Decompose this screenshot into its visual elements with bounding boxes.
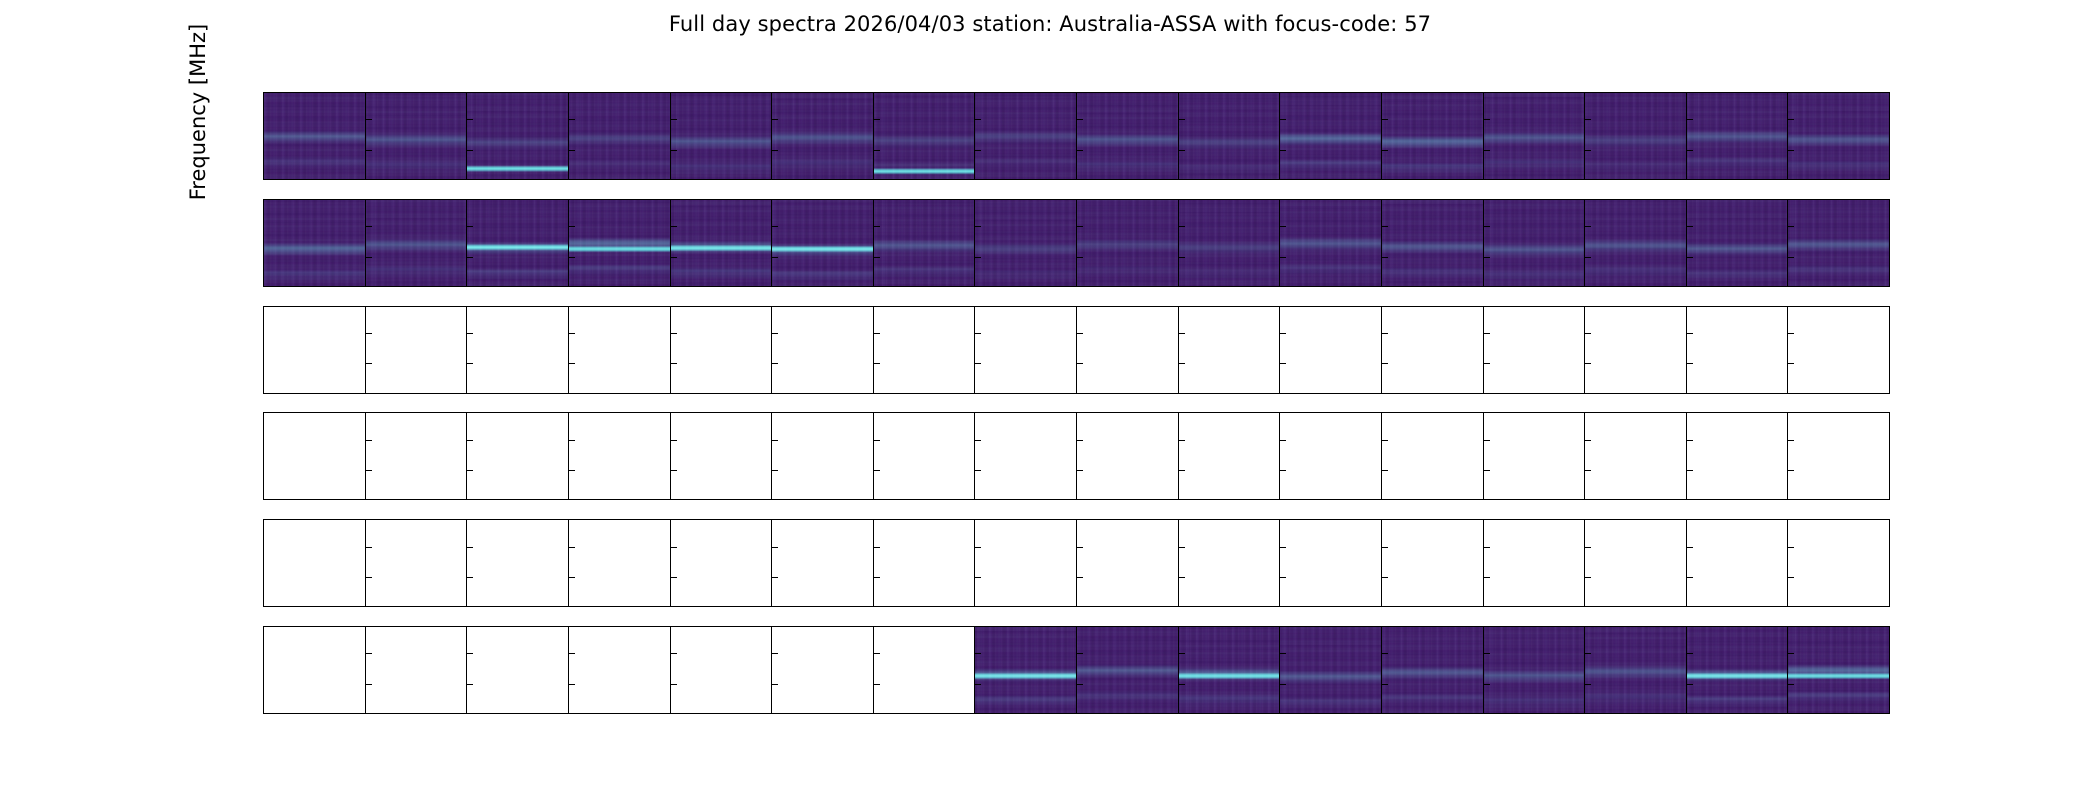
inner-y-tick-200	[1484, 150, 1490, 151]
inner-y-tick-300	[671, 333, 677, 334]
inner-y-tick-200	[1484, 684, 1490, 685]
inner-y-tick-200	[1585, 257, 1591, 258]
inner-y-tick-200	[975, 150, 981, 151]
spectrogram-emission-band	[975, 202, 1076, 286]
inner-y-tick-200	[874, 577, 880, 578]
inner-y-tick-200	[467, 363, 473, 364]
y-tick-300: 300	[263, 119, 264, 120]
spectrogram-cell[interactable]	[1584, 200, 1686, 286]
spectrogram-cell[interactable]	[1483, 200, 1585, 286]
spectrogram-cell[interactable]	[1076, 93, 1178, 179]
inner-y-tick-300	[772, 226, 778, 227]
spectrogram-vertical-streaks	[975, 627, 1076, 713]
spectrogram-cell[interactable]	[873, 93, 975, 179]
inner-y-tick-300	[1788, 547, 1794, 548]
spectrogram-emission-band	[1484, 203, 1585, 286]
spectrogram-cell[interactable]	[974, 627, 1076, 713]
inner-y-tick-300	[1382, 333, 1388, 334]
spectrogram-cell[interactable]	[1787, 520, 1889, 606]
spectrogram-cell[interactable]	[1279, 413, 1381, 499]
spectrogram-emission-band	[1179, 96, 1280, 179]
spectrogram-cell[interactable]	[670, 627, 772, 713]
inner-y-tick-200	[1280, 577, 1286, 578]
spectrogram-emission-band	[264, 202, 365, 286]
inner-y-tick-300	[1687, 440, 1693, 441]
spectrogram-emission-band	[1179, 201, 1280, 286]
spectrogram-cell[interactable]	[670, 307, 772, 393]
figure-title: Full day spectra 2026/04/03 station: Aus…	[0, 12, 2100, 36]
spectrogram-cell[interactable]	[365, 307, 467, 393]
spectrogram-cell[interactable]	[466, 413, 568, 499]
inner-y-tick-200	[671, 363, 677, 364]
inner-y-tick-300	[1382, 547, 1388, 548]
spectrogram-vertical-streaks	[1585, 627, 1686, 713]
inner-y-tick-200	[671, 150, 677, 151]
spectrogram-vertical-streaks	[1179, 200, 1280, 286]
inner-y-tick-300	[1687, 547, 1693, 548]
spectrogram-row-20-23ut[interactable]: 2003000015304500153045001530450015304520…	[263, 626, 1890, 714]
spectrogram-cell[interactable]	[1787, 200, 1889, 286]
inner-y-tick-300	[1382, 226, 1388, 227]
spectrogram-emission-band	[1077, 627, 1178, 710]
spectrogram-cell[interactable]	[466, 200, 568, 286]
inner-y-tick-300	[671, 226, 677, 227]
spectrogram-cell-group	[264, 627, 1889, 713]
spectrogram-emission-band	[1585, 200, 1686, 285]
inner-y-tick-200	[1280, 257, 1286, 258]
x-tick-9	[1178, 713, 1179, 714]
inner-y-tick-200	[1077, 257, 1083, 258]
spectrogram-cell[interactable]	[1381, 413, 1483, 499]
inner-y-tick-200	[569, 470, 575, 471]
x-tick-11	[1381, 713, 1382, 714]
spectrogram-row-00-03ut[interactable]: 20030000-03UT	[263, 92, 1890, 180]
spectrogram-vertical-streaks	[1484, 627, 1585, 713]
spectrogram-cell[interactable]	[264, 627, 365, 713]
inner-y-tick-300	[1484, 440, 1490, 441]
spectrogram-emission-band	[1280, 93, 1381, 178]
y-tick-300: 300	[263, 653, 264, 654]
inner-y-tick-200	[467, 257, 473, 258]
spectrogram-noise-texture	[1687, 627, 1788, 713]
spectrogram-cell[interactable]	[466, 520, 568, 606]
spectrogram-cell[interactable]	[264, 520, 365, 606]
inner-y-tick-200	[1484, 577, 1490, 578]
spectrogram-cell[interactable]	[365, 627, 467, 713]
spectrogram-noise-texture	[1788, 200, 1889, 286]
spectrogram-plot-area: 20030000-03UT20030004-07UT20030008-11UT2…	[263, 92, 1890, 714]
spectrogram-noise-texture	[975, 93, 1076, 179]
spectrogram-emission-band	[1077, 200, 1178, 284]
spectrogram-cell[interactable]	[1584, 627, 1686, 713]
spectrogram-vertical-streaks	[264, 200, 365, 286]
inner-y-tick-300	[1585, 119, 1591, 120]
spectrogram-cell[interactable]	[568, 307, 670, 393]
spectrogram-cell[interactable]	[873, 627, 975, 713]
spectrogram-cell[interactable]	[974, 93, 1076, 179]
spectrogram-cell[interactable]	[1381, 307, 1483, 393]
inner-y-tick-300	[366, 547, 372, 548]
spectrogram-noise-texture	[1585, 93, 1686, 179]
spectrogram-cell[interactable]	[1483, 627, 1585, 713]
inner-y-tick-300	[467, 333, 473, 334]
spectrogram-vertical-streaks	[1280, 200, 1381, 286]
spectrogram-cell[interactable]	[1279, 627, 1381, 713]
spectrogram-emission-band	[1280, 200, 1381, 283]
spectrogram-noise-texture	[772, 200, 873, 286]
spectrogram-vertical-streaks	[1077, 93, 1178, 179]
spectrogram-cell[interactable]	[771, 627, 873, 713]
inner-y-tick-300	[772, 333, 778, 334]
inner-y-tick-200	[1280, 684, 1286, 685]
inner-y-tick-200	[975, 363, 981, 364]
spectrogram-vertical-streaks	[1077, 627, 1178, 713]
spectrogram-emission-band	[874, 200, 975, 285]
spectrogram-bright-line	[1687, 627, 1788, 713]
inner-y-tick-300	[569, 333, 575, 334]
spectrogram-noise-texture	[1179, 93, 1280, 179]
spectrogram-cell[interactable]	[1483, 307, 1585, 393]
spectrogram-row-16-19ut[interactable]: 20030016-19UT	[263, 519, 1890, 607]
spectrogram-noise-texture	[1788, 627, 1889, 713]
spectrogram-cell[interactable]	[974, 520, 1076, 606]
spectrogram-cell[interactable]	[365, 413, 467, 499]
spectrogram-cell[interactable]	[1076, 413, 1178, 499]
spectrogram-cell[interactable]	[873, 413, 975, 499]
spectrogram-cell[interactable]	[1787, 307, 1889, 393]
inner-y-tick-300	[1179, 440, 1185, 441]
spectrogram-cell[interactable]	[466, 627, 568, 713]
spectrogram-cell[interactable]	[670, 200, 772, 286]
spectrogram-cell[interactable]	[1686, 627, 1788, 713]
x-tick-10	[1280, 713, 1281, 714]
x-tick-12	[1483, 713, 1484, 714]
y-tick-300: 300	[263, 333, 264, 334]
spectrogram-noise-texture	[1484, 627, 1585, 713]
spectrogram-bright-line	[467, 200, 568, 286]
inner-y-tick-200	[1179, 684, 1185, 685]
spectrogram-vertical-streaks	[975, 200, 1076, 286]
inner-y-tick-300	[975, 226, 981, 227]
spectrogram-noise-texture	[1077, 93, 1178, 179]
inner-y-tick-200	[1687, 684, 1693, 685]
x-tick-14	[1686, 713, 1687, 714]
spectrogram-vertical-streaks	[975, 93, 1076, 179]
spectrogram-cell[interactable]	[1178, 413, 1280, 499]
inner-y-tick-200	[569, 257, 575, 258]
spectrogram-emission-band	[1382, 95, 1483, 179]
spectrogram-cell[interactable]	[1279, 200, 1381, 286]
inner-y-tick-200	[1788, 577, 1794, 578]
spectrogram-cell[interactable]	[1483, 520, 1585, 606]
inner-y-tick-300	[467, 547, 473, 548]
inner-y-tick-200	[569, 577, 575, 578]
spectrogram-cell[interactable]	[670, 520, 772, 606]
inner-y-tick-200	[1788, 257, 1794, 258]
inner-y-tick-200	[1484, 470, 1490, 471]
inner-y-tick-200	[975, 684, 981, 685]
spectrogram-noise-texture	[671, 93, 772, 179]
spectrogram-cell[interactable]	[1076, 520, 1178, 606]
inner-y-tick-300	[1280, 119, 1286, 120]
y-tick-200: 200	[263, 684, 264, 685]
spectrogram-cell[interactable]	[1584, 93, 1686, 179]
spectrogram-vertical-streaks	[1382, 93, 1483, 179]
inner-y-tick-200	[1280, 470, 1286, 471]
spectrogram-vertical-streaks	[1788, 93, 1889, 179]
inner-y-tick-300	[1788, 653, 1794, 654]
y-tick-300: 300	[263, 440, 264, 441]
x-tick-4	[670, 713, 671, 714]
spectrogram-cell[interactable]	[1686, 307, 1788, 393]
spectrogram-noise-texture	[975, 200, 1076, 286]
spectrogram-cell[interactable]	[1584, 307, 1686, 393]
spectrogram-cell[interactable]	[264, 200, 365, 286]
inner-y-tick-300	[1484, 653, 1490, 654]
inner-y-tick-200	[1687, 470, 1693, 471]
inner-y-tick-300	[874, 333, 880, 334]
spectrogram-emission-band	[975, 628, 1076, 713]
spectrogram-cell[interactable]	[466, 307, 568, 393]
y-tick-200: 200	[263, 150, 264, 151]
inner-y-tick-300	[874, 226, 880, 227]
x-tick-3	[569, 713, 570, 714]
inner-y-tick-200	[366, 684, 372, 685]
inner-y-tick-300	[1280, 547, 1286, 548]
inner-y-tick-200	[1687, 257, 1693, 258]
inner-y-tick-300	[1585, 333, 1591, 334]
spectrogram-vertical-streaks	[467, 200, 568, 286]
spectrogram-cell[interactable]	[670, 93, 772, 179]
spectrogram-cell[interactable]	[1787, 627, 1889, 713]
spectrogram-cell[interactable]	[771, 413, 873, 499]
spectrogram-emission-band	[1382, 200, 1483, 286]
spectrogram-vertical-streaks	[1484, 200, 1585, 286]
inner-y-tick-300	[1077, 653, 1083, 654]
spectrogram-cell[interactable]	[1076, 307, 1178, 393]
spectrogram-cell[interactable]	[1483, 413, 1585, 499]
spectrogram-cell[interactable]	[1076, 627, 1178, 713]
inner-y-tick-200	[366, 363, 372, 364]
spectrogram-cell[interactable]	[974, 413, 1076, 499]
inner-y-tick-300	[467, 440, 473, 441]
spectrogram-cell[interactable]	[1787, 413, 1889, 499]
spectrogram-cell[interactable]	[974, 307, 1076, 393]
y-tick-200: 200	[263, 363, 264, 364]
spectrogram-cell[interactable]	[1381, 520, 1483, 606]
inner-y-tick-300	[671, 440, 677, 441]
inner-y-tick-300	[1687, 653, 1693, 654]
inner-y-tick-300	[671, 119, 677, 120]
spectrogram-noise-texture	[467, 200, 568, 286]
spectrogram-cell[interactable]	[771, 93, 873, 179]
inner-y-tick-200	[1788, 363, 1794, 364]
inner-y-tick-300	[772, 440, 778, 441]
spectrogram-noise-texture	[366, 200, 467, 286]
spectrogram-emission-band	[1585, 627, 1686, 711]
spectrogram-noise-texture	[1484, 200, 1585, 286]
inner-y-tick-200	[1585, 363, 1591, 364]
inner-y-tick-300	[569, 440, 575, 441]
inner-y-tick-300	[671, 653, 677, 654]
spectrogram-emission-band	[671, 200, 772, 286]
spectrogram-cell[interactable]	[771, 200, 873, 286]
y-tick-200: 200	[263, 577, 264, 578]
spectrogram-row-08-11ut[interactable]: 20030008-11UT	[263, 306, 1890, 394]
spectrogram-noise-texture	[1280, 627, 1381, 713]
spectrogram-cell-group	[264, 93, 1889, 179]
spectrogram-cell[interactable]	[1381, 93, 1483, 179]
spectrogram-vertical-streaks	[467, 93, 568, 179]
spectrogram-cell[interactable]	[568, 200, 670, 286]
inner-y-tick-300	[1687, 226, 1693, 227]
spectrogram-cell[interactable]	[1686, 520, 1788, 606]
inner-y-tick-300	[1585, 440, 1591, 441]
spectrogram-cell[interactable]	[1178, 200, 1280, 286]
spectrogram-bright-line	[569, 200, 670, 286]
spectrogram-emission-band	[772, 203, 873, 286]
spectrogram-noise-texture	[569, 200, 670, 286]
inner-y-tick-200	[1687, 150, 1693, 151]
x-tick-5	[772, 713, 773, 714]
inner-y-tick-300	[874, 440, 880, 441]
spectrogram-cell[interactable]	[1686, 93, 1788, 179]
spectrogram-cell[interactable]	[1787, 93, 1889, 179]
spectrogram-cell[interactable]	[771, 520, 873, 606]
spectrogram-noise-texture	[1687, 93, 1788, 179]
spectrogram-emission-band	[264, 93, 365, 176]
spectrogram-noise-texture	[1382, 93, 1483, 179]
inner-y-tick-200	[1484, 363, 1490, 364]
inner-y-tick-300	[467, 653, 473, 654]
spectrogram-emission-band	[1280, 630, 1381, 713]
spectrogram-cell[interactable]	[264, 307, 365, 393]
spectrogram-cell[interactable]	[1178, 93, 1280, 179]
spectrogram-cell[interactable]	[1178, 307, 1280, 393]
spectrogram-noise-texture	[467, 93, 568, 179]
spectrogram-cell[interactable]	[568, 413, 670, 499]
inner-y-tick-200	[1484, 257, 1490, 258]
inner-y-tick-300	[1280, 333, 1286, 334]
spectrogram-bright-line	[975, 627, 1076, 713]
spectrogram-emission-band	[1687, 202, 1788, 286]
inner-y-tick-300	[569, 653, 575, 654]
spectrogram-cell[interactable]	[1279, 93, 1381, 179]
spectrogram-cell[interactable]	[1686, 200, 1788, 286]
inner-y-tick-200	[671, 684, 677, 685]
inner-y-tick-200	[1788, 150, 1794, 151]
spectrogram-cell[interactable]	[1076, 200, 1178, 286]
spectrogram-cell[interactable]	[365, 93, 467, 179]
y-tick-300: 300	[263, 226, 264, 227]
spectrogram-vertical-streaks	[1687, 200, 1788, 286]
spectrogram-emission-band	[975, 93, 1076, 176]
spectrogram-cell[interactable]	[1381, 200, 1483, 286]
spectrogram-cell[interactable]	[1381, 627, 1483, 713]
spectrogram-vertical-streaks	[1788, 200, 1889, 286]
spectrogram-cell[interactable]	[670, 413, 772, 499]
inner-y-tick-200	[1382, 470, 1388, 471]
spectrogram-cell[interactable]	[873, 520, 975, 606]
inner-y-tick-200	[1382, 363, 1388, 364]
spectrogram-row-12-15ut[interactable]: 20030012-15UT	[263, 412, 1890, 500]
spectrogram-vertical-streaks	[874, 93, 975, 179]
inner-y-tick-200	[671, 577, 677, 578]
inner-y-tick-300	[1280, 226, 1286, 227]
spectrogram-cell[interactable]	[365, 200, 467, 286]
inner-y-tick-200	[1585, 470, 1591, 471]
spectrogram-cell-group	[264, 413, 1889, 499]
inner-y-tick-200	[1077, 684, 1083, 685]
spectrogram-noise-texture	[569, 93, 670, 179]
inner-y-tick-200	[874, 150, 880, 151]
inner-y-tick-300	[366, 226, 372, 227]
inner-y-tick-200	[1077, 363, 1083, 364]
inner-y-tick-200	[1077, 470, 1083, 471]
spectrogram-cell[interactable]	[1483, 93, 1585, 179]
spectrogram-cell[interactable]	[1178, 627, 1280, 713]
inner-y-tick-300	[975, 440, 981, 441]
spectrogram-cell[interactable]	[873, 307, 975, 393]
spectrogram-cell[interactable]	[568, 627, 670, 713]
inner-y-tick-200	[569, 150, 575, 151]
inner-y-tick-300	[1280, 653, 1286, 654]
spectrogram-emission-band	[1382, 627, 1483, 712]
inner-y-tick-200	[874, 257, 880, 258]
spectrogram-cell[interactable]	[1686, 413, 1788, 499]
x-tick-7	[975, 713, 976, 714]
spectrogram-vertical-streaks	[569, 93, 670, 179]
inner-y-tick-200	[1382, 257, 1388, 258]
inner-y-tick-300	[1687, 119, 1693, 120]
spectrogram-emission-band	[772, 93, 873, 177]
spectrogram-cell[interactable]	[568, 520, 670, 606]
spectrogram-cell[interactable]	[1279, 307, 1381, 393]
spectrogram-emission-band	[366, 93, 467, 179]
inner-y-tick-300	[1179, 333, 1185, 334]
spectrogram-cell[interactable]	[1279, 520, 1381, 606]
spectrogram-emission-band	[569, 200, 670, 283]
spectrogram-row-04-07ut[interactable]: 20030004-07UT	[263, 199, 1890, 287]
spectrogram-noise-texture	[366, 93, 467, 179]
spectrogram-cell[interactable]	[264, 93, 365, 179]
spectrogram-cell[interactable]	[1584, 413, 1686, 499]
spectrogram-emission-band	[1484, 629, 1585, 713]
inner-y-tick-200	[1179, 150, 1185, 151]
spectrogram-cell[interactable]	[568, 93, 670, 179]
inner-y-tick-300	[975, 653, 981, 654]
spectrogram-cell[interactable]	[974, 200, 1076, 286]
spectrogram-cell[interactable]	[771, 307, 873, 393]
spectrogram-cell[interactable]	[365, 520, 467, 606]
inner-y-tick-200	[1280, 150, 1286, 151]
spectrogram-vertical-streaks	[366, 93, 467, 179]
spectrogram-vertical-streaks	[1280, 93, 1381, 179]
spectrogram-cell[interactable]	[264, 413, 365, 499]
inner-y-tick-300	[772, 547, 778, 548]
spectrogram-emission-band	[1788, 93, 1889, 179]
spectrogram-vertical-streaks	[874, 200, 975, 286]
inner-y-tick-200	[772, 684, 778, 685]
spectrogram-emission-band	[467, 201, 568, 286]
spectrogram-cell[interactable]	[873, 200, 975, 286]
spectrogram-cell[interactable]	[466, 93, 568, 179]
spectrogram-cell[interactable]	[1584, 520, 1686, 606]
spectrogram-bright-line	[671, 200, 772, 286]
inner-y-tick-300	[772, 653, 778, 654]
inner-y-tick-300	[1382, 653, 1388, 654]
spectrogram-cell[interactable]	[1178, 520, 1280, 606]
